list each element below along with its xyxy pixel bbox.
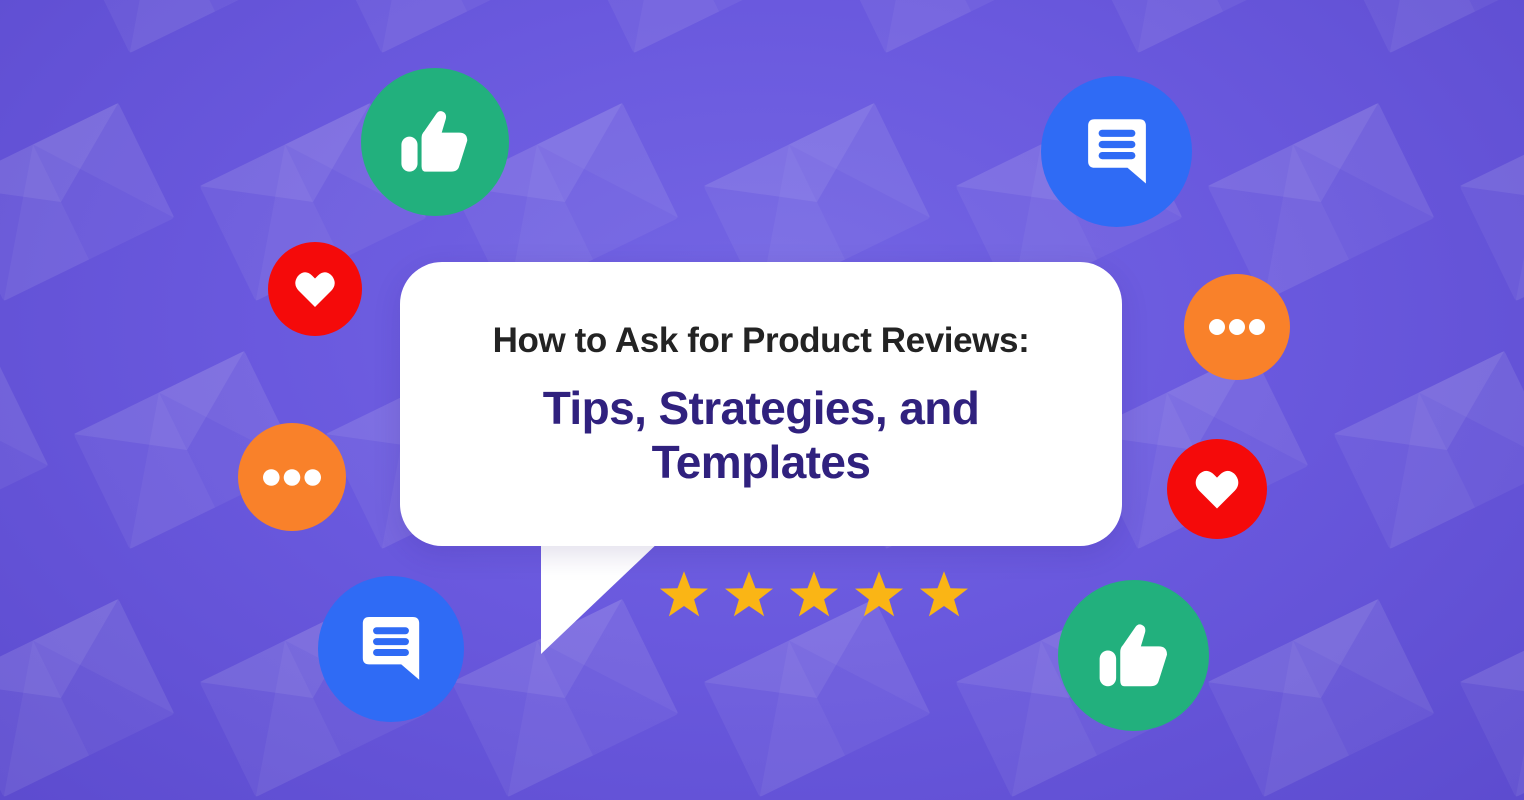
thumbs-up-icon: [1058, 580, 1209, 731]
envelope-icon: [1334, 351, 1524, 549]
banner-stage: How to Ask for Product Reviews: Tips, St…: [0, 0, 1524, 800]
thumbs-up-icon: [361, 68, 509, 216]
envelope-icon: [74, 0, 301, 53]
star-rating: [660, 570, 968, 618]
envelope-icon: [1082, 0, 1309, 53]
envelope-icon: [1208, 103, 1435, 301]
title-card: How to Ask for Product Reviews: Tips, St…: [400, 262, 1122, 546]
star-icon: [790, 570, 838, 618]
page-subtitle: Tips, Strategies, and Templates: [501, 381, 1021, 490]
envelope-icon: [1208, 599, 1435, 797]
envelope-icon: [0, 351, 48, 549]
chat-bubble-icon: [318, 576, 464, 722]
star-icon: [920, 570, 968, 618]
envelope-icon: [830, 0, 1057, 53]
chat-bubble-icon: [1041, 76, 1192, 227]
envelope-icon: [0, 103, 174, 301]
envelope-icon: [1334, 0, 1524, 53]
envelope-icon: [326, 0, 553, 53]
page-title: How to Ask for Product Reviews:: [493, 322, 1030, 361]
heart-icon: [1167, 439, 1267, 539]
title-card-content: How to Ask for Product Reviews: Tips, St…: [400, 262, 1122, 546]
star-icon: [725, 570, 773, 618]
speech-bubble-tail: [541, 540, 661, 654]
envelope-icon: [578, 0, 805, 53]
envelope-icon: [0, 0, 48, 53]
star-icon: [855, 570, 903, 618]
envelope-icon: [704, 599, 931, 797]
heart-icon: [268, 242, 362, 336]
ellipsis-icon: [238, 423, 346, 531]
ellipsis-icon: [1184, 274, 1290, 380]
envelope-icon: [1460, 103, 1524, 301]
envelope-icon: [1460, 599, 1524, 797]
star-icon: [660, 570, 708, 618]
envelope-icon: [0, 599, 174, 797]
